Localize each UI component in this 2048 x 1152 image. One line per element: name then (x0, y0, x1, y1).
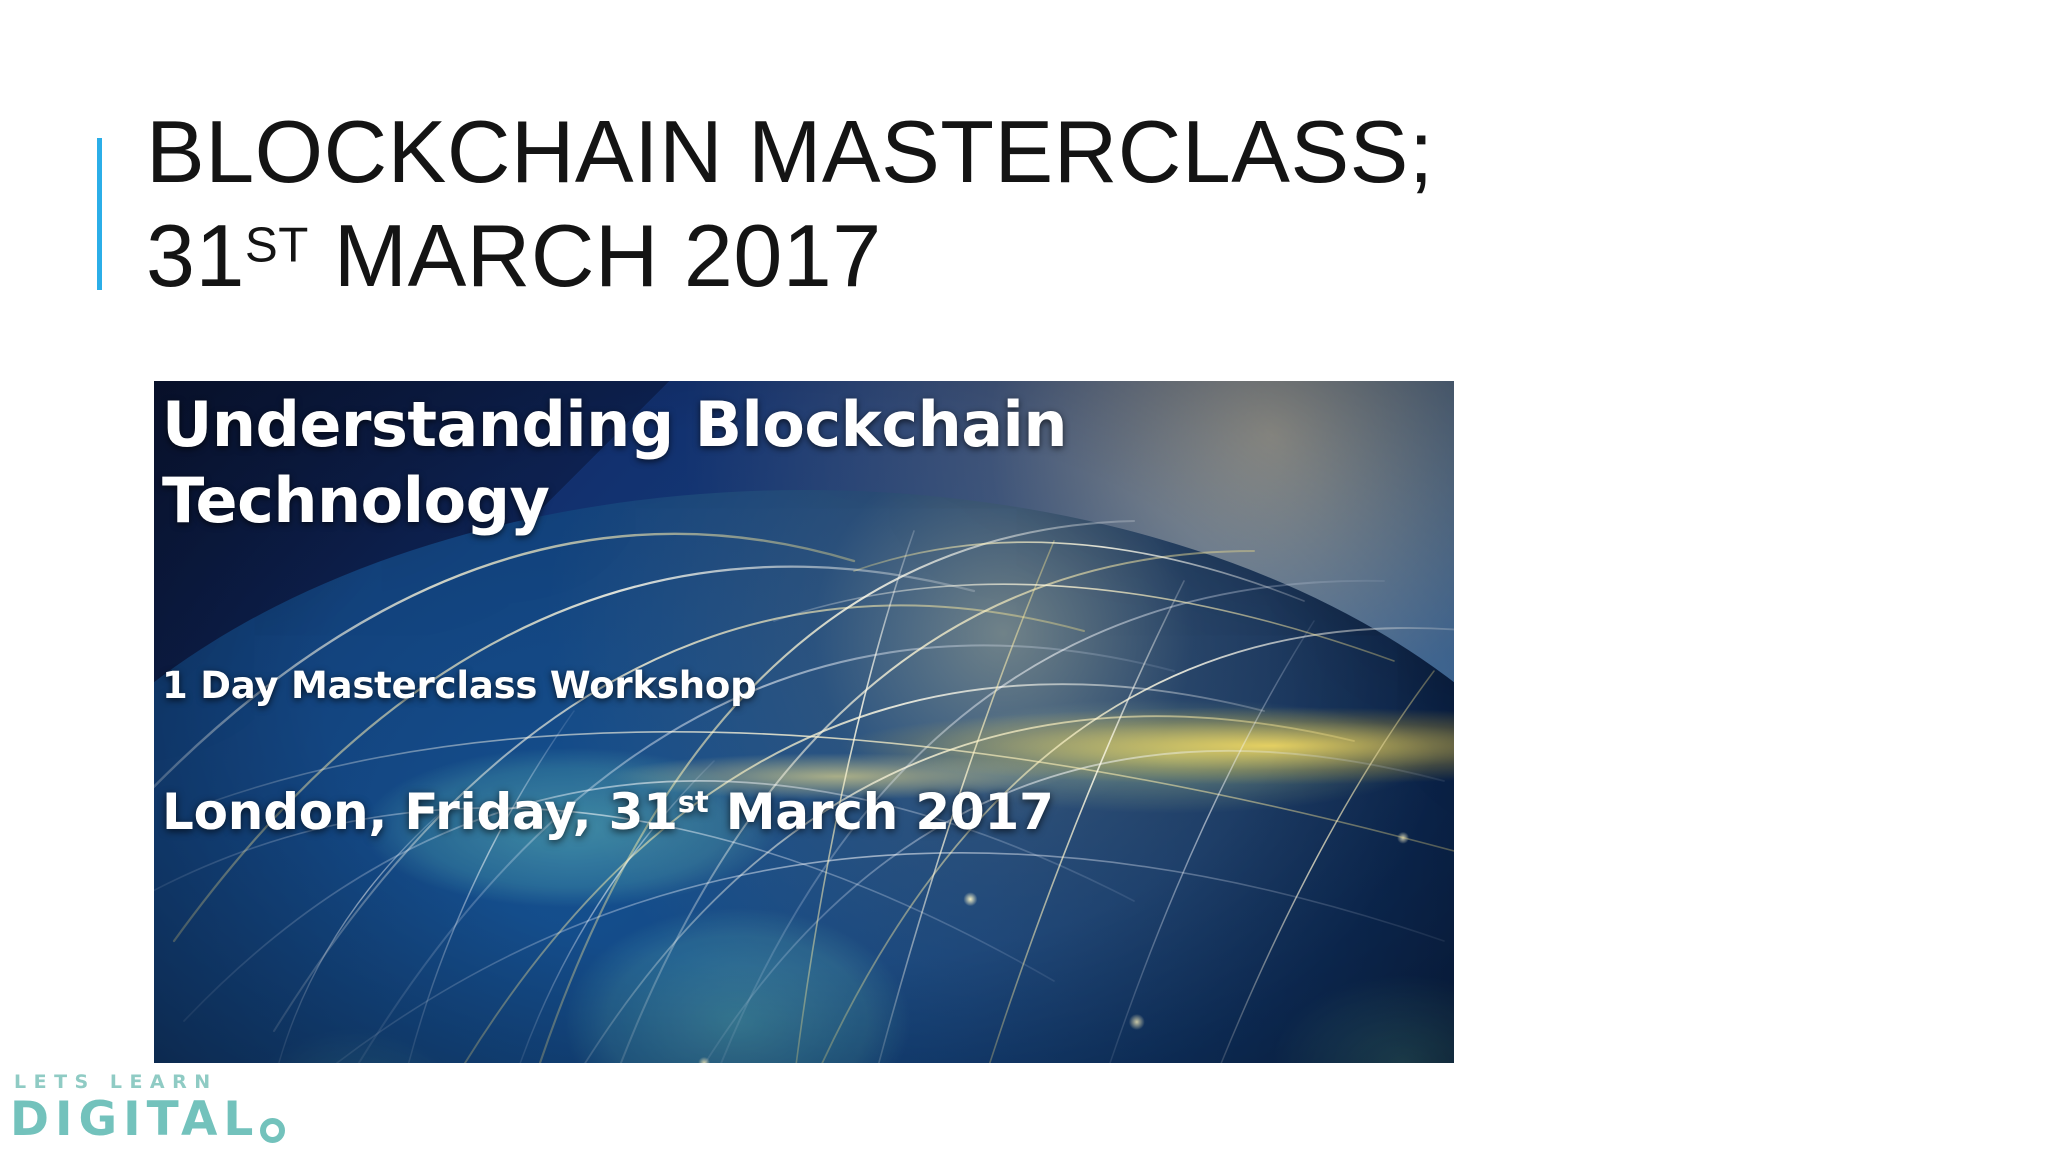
promo-subtitle: 1 Day Masterclass Workshop (162, 663, 756, 709)
promo-location-date: London, Friday, 31st March 2017 (162, 781, 1054, 843)
brand-logo: LETS LEARN DIGITAL (8, 1071, 328, 1145)
promo-text-overlay: Understanding Blockchain Technology 1 Da… (154, 381, 1454, 1063)
promo-location-suffix: March 2017 (709, 783, 1054, 841)
promo-image-panel: Understanding Blockchain Technology 1 Da… (154, 381, 1454, 1063)
page-title: BLOCKCHAIN MASTERCLASS;31ST MARCH 2017 (146, 100, 1906, 308)
title-line-2-number: 31 (146, 206, 245, 305)
promo-heading: Understanding Blockchain Technology (162, 387, 1162, 539)
brand-tagline: LETS LEARN (14, 1071, 218, 1093)
logo-circle-icon (260, 1118, 285, 1143)
title-line-2-rest: MARCH 2017 (309, 206, 882, 305)
brand-wordmark: DIGITAL (10, 1095, 259, 1145)
slide-title-block: BLOCKCHAIN MASTERCLASS;31ST MARCH 2017 (97, 100, 1897, 300)
title-line-2-ordinal-suffix: ST (245, 217, 309, 272)
promo-ordinal-suffix: st (678, 785, 709, 819)
promo-location-prefix: London, Friday, 31 (162, 783, 678, 841)
title-accent-bar (97, 138, 102, 290)
title-line-1: BLOCKCHAIN MASTERCLASS; (146, 102, 1434, 201)
brand-wordmark-group: DIGITAL (10, 1095, 285, 1145)
